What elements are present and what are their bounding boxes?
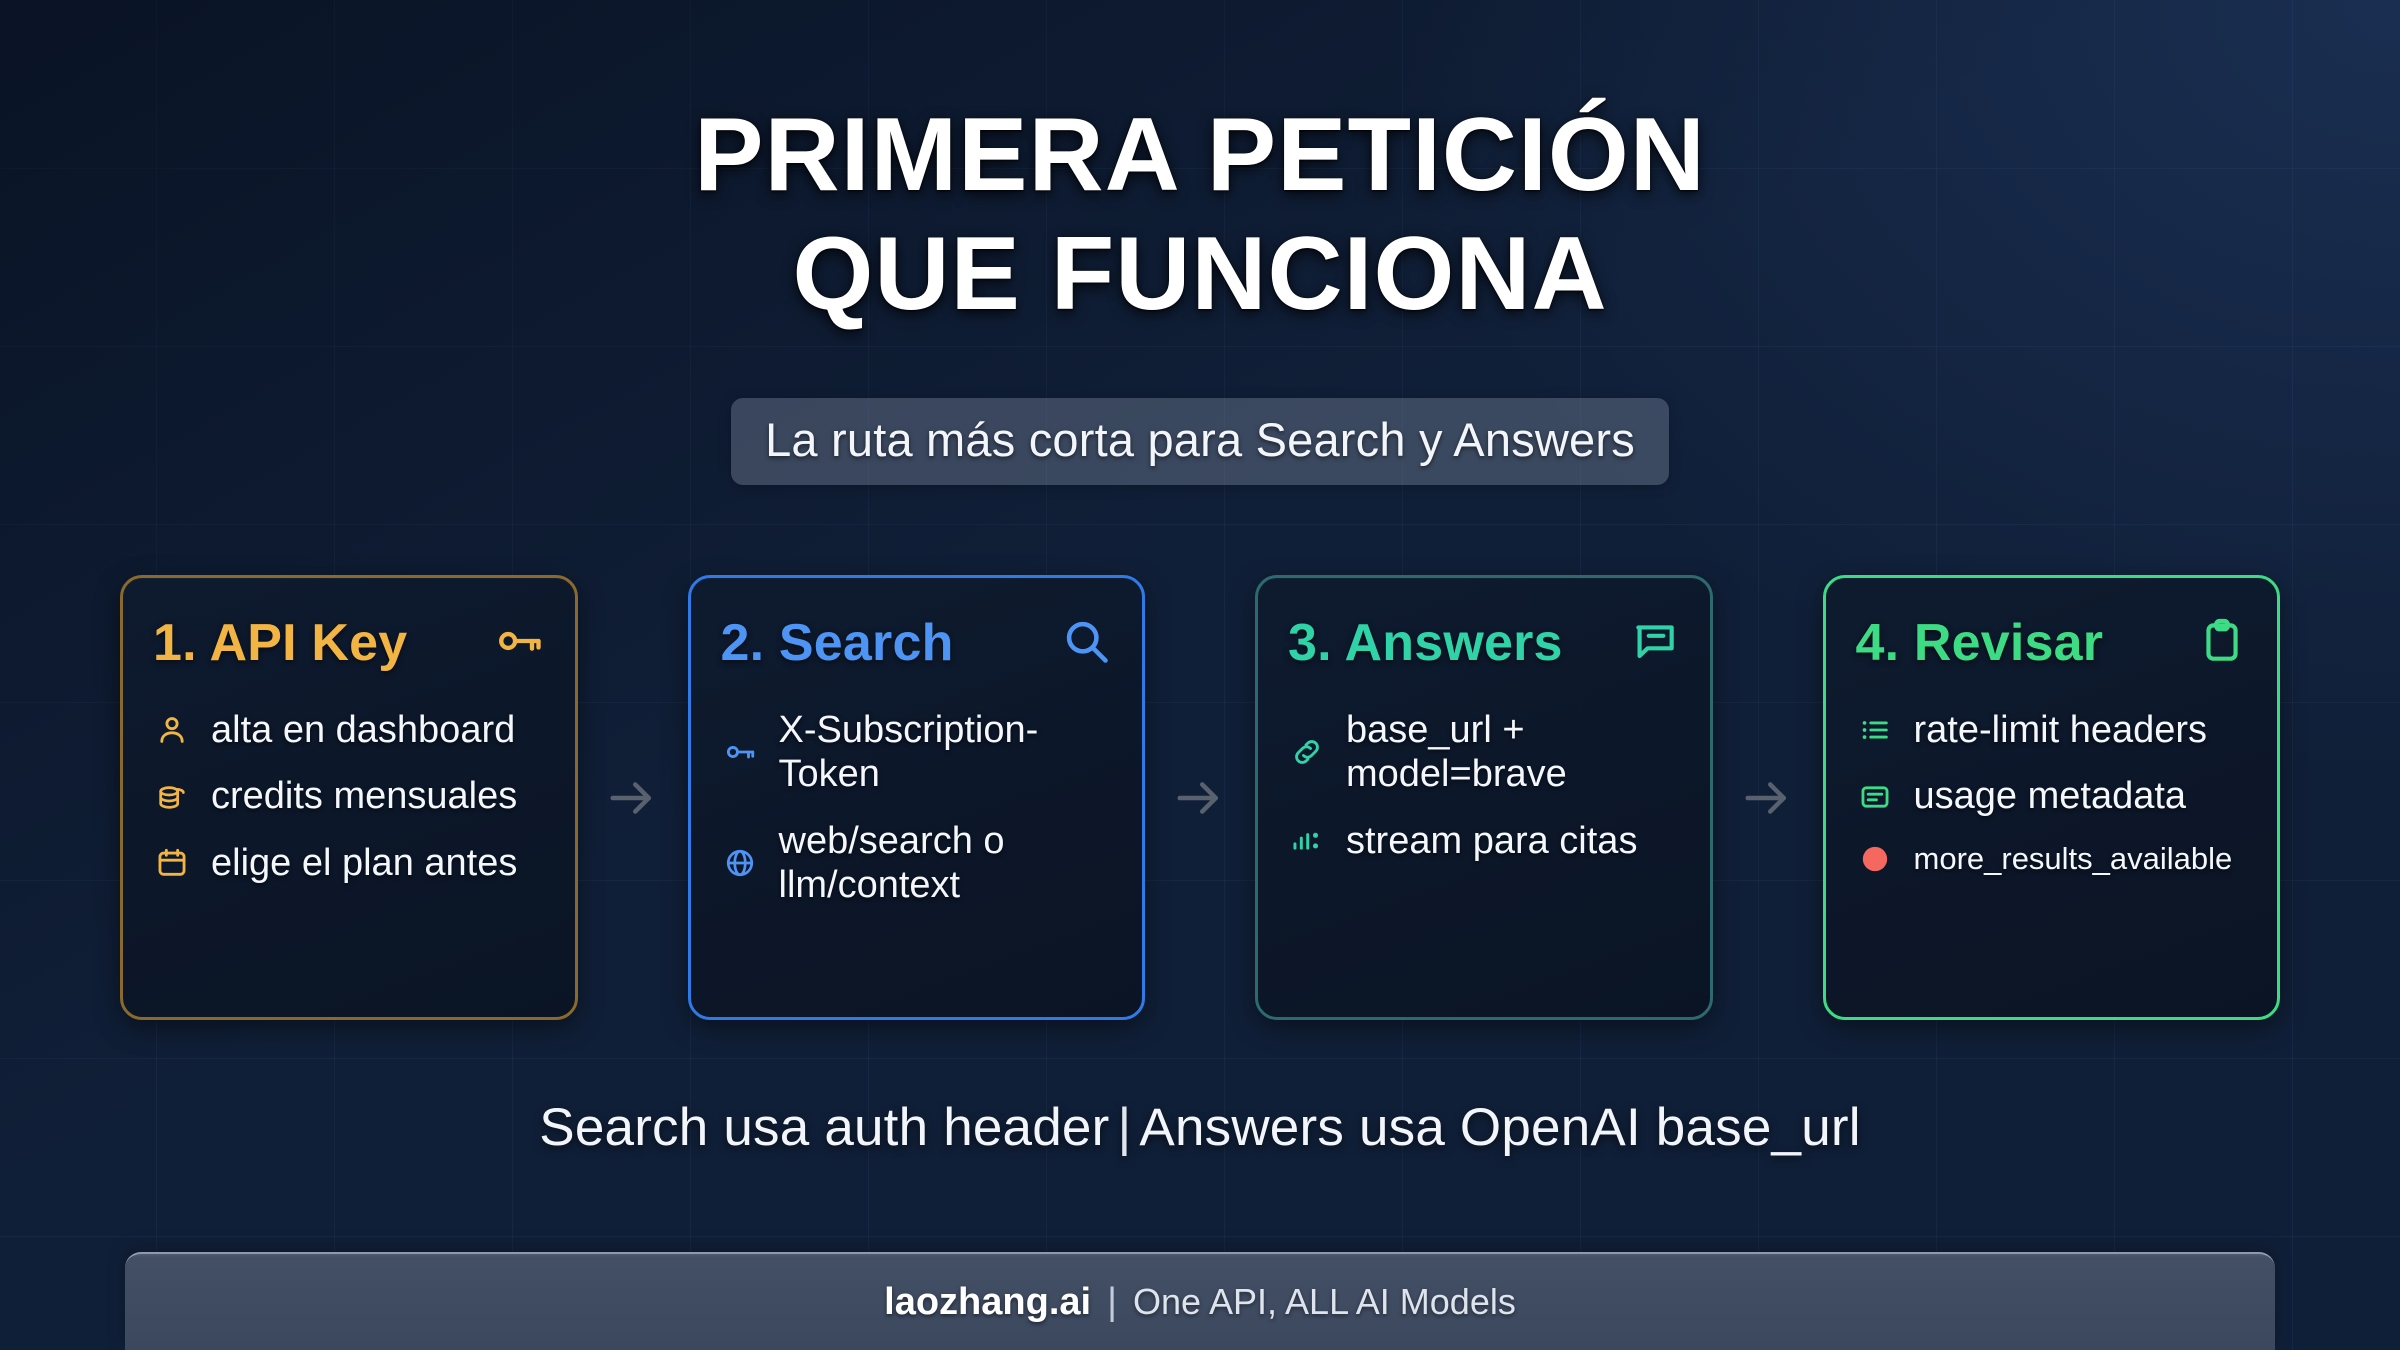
step-card-api-key[interactable]: 1. API Key alta en dashboard: [120, 575, 578, 1020]
card-title: 3. Answers: [1288, 613, 1563, 673]
list-item: credits mensuales: [153, 774, 545, 818]
step-card-answers[interactable]: 3. Answers base_url + model=brave: [1255, 575, 1713, 1020]
bullet-label: credits mensuales: [211, 774, 517, 818]
bullet-label: base_url + model=brave: [1346, 708, 1680, 797]
brand-tagline: One API, ALL AI Models: [1133, 1281, 1516, 1323]
brand-bar: laozhang.ai | One API, ALL AI Models: [125, 1252, 2275, 1350]
note-icon: [1856, 780, 1894, 814]
card-header: 3. Answers: [1288, 612, 1680, 674]
list-item: stream para citas: [1288, 819, 1680, 863]
bullet-label: X-Subscription-Token: [779, 708, 1113, 797]
bullet-label: elige el plan antes: [211, 841, 517, 885]
list-item: more_results_available: [1856, 841, 2248, 877]
arrow-right-icon: [1145, 575, 1255, 1020]
card-title: 2. Search: [721, 613, 954, 673]
list-item: rate-limit headers: [1856, 708, 2248, 752]
arrow-right-icon: [578, 575, 688, 1020]
list-item: web/search o llm/context: [721, 819, 1113, 908]
user-icon: [153, 713, 191, 747]
message-icon: [1630, 616, 1680, 671]
clipboard-icon: [2197, 616, 2247, 671]
subtitle-pill: La ruta más corta para Search y Answers: [731, 398, 1669, 485]
key-icon: [493, 615, 545, 672]
page-title: PRIMERA PETICIÓN QUE FUNCIONA: [0, 96, 2400, 333]
tagline-right: Answers usa OpenAI base_url: [1139, 1098, 1860, 1157]
tagline-left: Search usa auth header: [539, 1098, 1109, 1157]
card-bullets: rate-limit headers usage metadata: [1856, 708, 2248, 877]
brand-separator: |: [1091, 1281, 1133, 1324]
card-header: 4. Revisar: [1856, 612, 2248, 674]
list-icon: [1856, 713, 1894, 747]
bullet-label: rate-limit headers: [1914, 708, 2208, 752]
search-icon: [1060, 615, 1112, 672]
list-item: elige el plan antes: [153, 841, 545, 885]
brand-inner: laozhang.ai | One API, ALL AI Models: [884, 1281, 1516, 1324]
summary-tagline: Search usa auth header|Answers usa OpenA…: [0, 1097, 2400, 1158]
list-item: X-Subscription-Token: [721, 708, 1113, 797]
list-item: usage metadata: [1856, 774, 2248, 818]
card-bullets: alta en dashboard credits mensuales: [153, 708, 545, 885]
arrow-right-icon: [1713, 575, 1823, 1020]
poster-canvas: PRIMERA PETICIÓN QUE FUNCIONA La ruta má…: [0, 0, 2400, 1350]
link-icon: [1288, 735, 1326, 769]
card-title: 4. Revisar: [1856, 613, 2104, 673]
card-header: 2. Search: [721, 612, 1113, 674]
card-title: 1. API Key: [153, 613, 407, 673]
steps-row: 1. API Key alta en dashboard: [120, 575, 2280, 1020]
title-line-2: QUE FUNCIONA: [0, 215, 2400, 334]
card-header: 1. API Key: [153, 612, 545, 674]
title-line-1: PRIMERA PETICIÓN: [0, 96, 2400, 215]
bullet-label: stream para citas: [1346, 819, 1637, 863]
step-card-search[interactable]: 2. Search X-Subscription-Token: [688, 575, 1146, 1020]
key-icon: [721, 735, 759, 769]
bullet-label: alta en dashboard: [211, 708, 515, 752]
list-item: alta en dashboard: [153, 708, 545, 752]
globe-icon: [721, 846, 759, 880]
bullet-label: usage metadata: [1914, 774, 2187, 818]
coins-icon: [153, 780, 191, 814]
subtitle-container: La ruta más corta para Search y Answers: [0, 398, 2400, 485]
card-bullets: X-Subscription-Token web/search o llm/co…: [721, 708, 1113, 908]
red-dot-icon: [1856, 842, 1894, 876]
list-item: base_url + model=brave: [1288, 708, 1680, 797]
tagline-separator: |: [1109, 1098, 1139, 1157]
bullet-label: web/search o llm/context: [779, 819, 1113, 908]
brand-name: laozhang.ai: [884, 1281, 1091, 1324]
card-bullets: base_url + model=brave stream para citas: [1288, 708, 1680, 863]
calendar-icon: [153, 846, 191, 880]
step-card-revisar[interactable]: 4. Revisar: [1823, 575, 2281, 1020]
activity-icon: [1288, 824, 1326, 858]
bullet-label: more_results_available: [1914, 841, 2233, 877]
